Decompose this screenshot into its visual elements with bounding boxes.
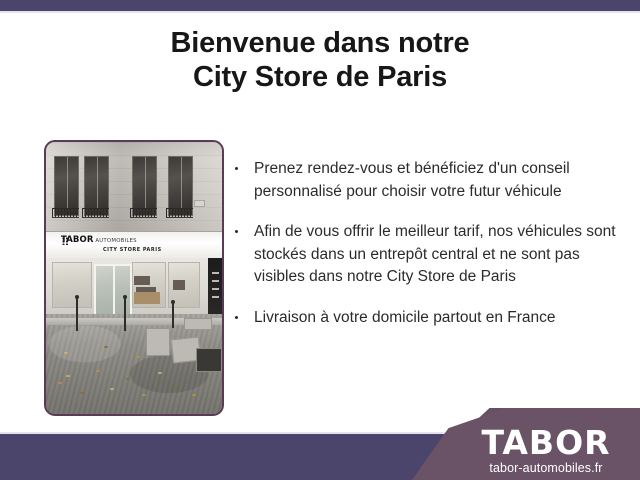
photo-balcony-railing	[82, 208, 109, 218]
bullet-marker-icon	[235, 316, 238, 319]
photo-interior-furniture	[134, 276, 150, 285]
photo-sign-brand-line: TABOR AUTOMOBILES	[61, 236, 137, 246]
footer-website-url: tabor-automobiles.fr	[460, 460, 632, 476]
photo-neighbour-panel	[208, 258, 222, 318]
photo-interior-desk	[134, 292, 160, 304]
top-accent-bar	[0, 0, 640, 11]
footer-brand-lockup: TABOR tabor-automobiles.fr	[460, 426, 632, 476]
page-title-line-2: City Store de Paris	[40, 60, 600, 94]
bullet-item-1-text: Prenez rendez-vous et bénéficiez d'un co…	[254, 160, 570, 200]
bullet-item-2: Afin de vous offrir le meilleur tarif, n…	[232, 221, 630, 289]
page-title: Bienvenue dans notre City Store de Paris	[40, 26, 600, 94]
photo-wall-plaque	[194, 200, 205, 207]
bullet-item-1: Prenez rendez-vous et bénéficiez d'un co…	[232, 158, 630, 203]
photo-balcony-railing	[166, 208, 193, 218]
bullet-marker-icon	[235, 167, 238, 170]
photo-balcony-railing	[52, 208, 79, 218]
photo-window	[168, 156, 193, 216]
photo-interior-furniture	[173, 280, 185, 290]
photo-paving-slab	[146, 328, 170, 356]
photo-window	[84, 156, 109, 216]
photo-bollard	[76, 297, 78, 331]
slide-canvas: Bienvenue dans notre City Store de Paris…	[0, 0, 640, 480]
photo-sign-store-line: CITY STORE PARIS	[103, 247, 162, 253]
photo-sign-brand: TABOR	[61, 235, 93, 245]
bullet-list: Prenez rendez-vous et bénéficiez d'un co…	[232, 158, 630, 329]
photo-paving-slab	[184, 318, 212, 330]
tabor-logo: TABOR	[460, 426, 632, 460]
photo-bollard	[124, 297, 126, 331]
bullet-item-3-text: Livraison à votre domicile partout en Fr…	[254, 309, 556, 326]
photo-window	[132, 156, 157, 216]
photo-bollard	[172, 302, 174, 328]
photo-sign-brand-suffix: AUTOMOBILES	[93, 238, 136, 244]
photo-shop-door	[94, 264, 132, 318]
photo-balcony-railing	[130, 208, 157, 218]
page-title-line-1: Bienvenue dans notre	[40, 26, 600, 60]
bullet-item-3: Livraison à votre domicile partout en Fr…	[232, 307, 630, 330]
top-accent-hairline	[0, 11, 640, 13]
photo-shop-window	[52, 262, 92, 308]
bullet-item-2-text: Afin de vous offrir le meilleur tarif, n…	[254, 223, 616, 285]
photo-drain-grate	[196, 348, 222, 372]
storefront-photo: TABOR AUTOMOBILES CITY STORE PARIS	[44, 140, 224, 416]
photo-window	[54, 156, 79, 216]
bullet-marker-icon	[235, 230, 238, 233]
